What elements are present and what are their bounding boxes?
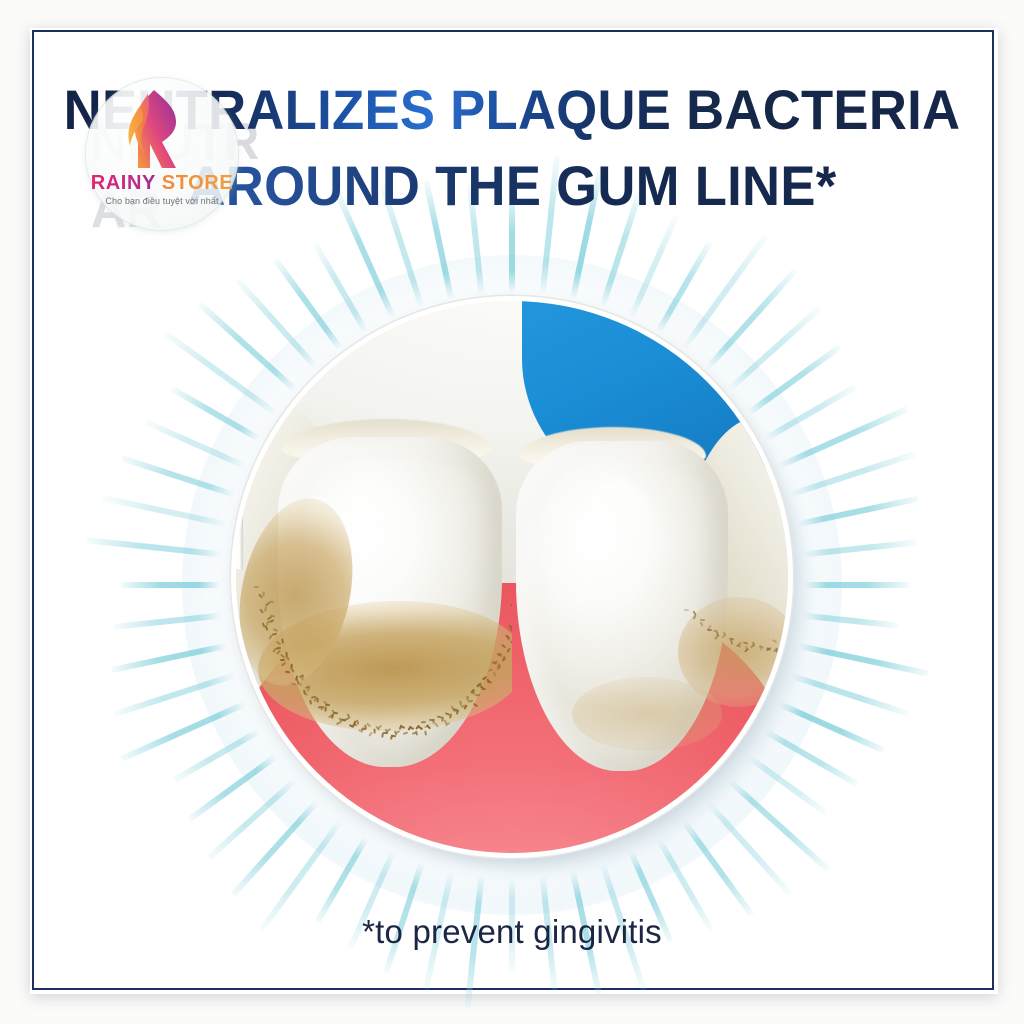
panel-treated — [512, 301, 788, 853]
bacteria-speck — [290, 667, 295, 672]
bristle-ray — [804, 582, 909, 588]
bristle-ray — [509, 191, 515, 293]
bacteria-speck — [424, 730, 427, 735]
bacteria-speck — [487, 680, 492, 683]
bacteria-speck — [254, 586, 259, 588]
bacteria-speck — [445, 712, 450, 716]
bacteria-speck — [285, 671, 290, 674]
bacteria-speck — [352, 723, 357, 726]
footnote-text: *to prevent gingivitis — [0, 913, 1024, 951]
bacteria-speck — [291, 682, 296, 686]
bacteria-speck — [466, 695, 469, 700]
bacteria-speck — [273, 628, 278, 632]
bacteria-speck — [331, 713, 334, 718]
illustration-circle — [236, 301, 788, 853]
bacteria-speck — [303, 692, 308, 697]
split-divider — [236, 301, 243, 569]
bacteria-speck — [390, 734, 393, 739]
watermark-tagline: Cho bạn điều tuyệt vời nhất — [86, 196, 238, 206]
flame-r-logo-icon — [124, 88, 200, 170]
bacteria-speck — [501, 644, 506, 649]
bacteria-speck — [373, 729, 375, 734]
bacteria-specks-right — [512, 301, 788, 853]
bacteria-speck — [421, 721, 426, 724]
bacteria-speck — [281, 662, 286, 667]
brand-secondary: STORE — [162, 172, 234, 194]
bacteria-speck — [692, 614, 697, 619]
bacteria-speck — [301, 675, 305, 680]
bacteria-speck — [473, 703, 478, 708]
bacteria-speck — [472, 690, 474, 695]
bacteria-speck — [403, 731, 408, 735]
bacteria-speck — [306, 686, 310, 691]
bacteria-speck — [459, 700, 462, 705]
bacteria-speck — [344, 717, 349, 721]
watermark-brand: RAINY STORE — [86, 172, 238, 195]
bacteria-speck — [437, 716, 442, 719]
bacteria-speck — [772, 639, 777, 643]
bacteria-speck — [276, 641, 281, 646]
artwork-canvas: NEUTRALIZES PLAQUE BACTERIA AROUND THE G… — [0, 0, 1024, 1024]
bacteria-speck — [368, 731, 373, 736]
bacteria-speck — [506, 647, 511, 652]
bacteria-speck — [324, 706, 327, 711]
bacteria-speck — [699, 621, 703, 626]
bacteria-speck — [684, 609, 689, 611]
bacteria-speck — [361, 728, 366, 731]
bacteria-speck — [475, 694, 480, 696]
bacteria-speck — [264, 606, 267, 611]
bacteria-speck — [503, 655, 506, 660]
bristle-ray — [121, 582, 220, 588]
bacteria-speck — [743, 641, 748, 645]
bacteria-speck — [297, 682, 302, 686]
bacteria-speck — [714, 634, 719, 639]
bacteria-speck — [336, 721, 341, 725]
bacteria-speck — [272, 632, 277, 635]
bacteria-speck — [492, 671, 496, 676]
bacteria-speck — [381, 732, 384, 737]
bacteria-speck — [309, 699, 312, 704]
bacteria-speck — [281, 638, 284, 643]
bacteria-speck — [262, 592, 265, 597]
bacteria-speck — [707, 629, 712, 632]
watermark-logo: NEUTR AR — [86, 72, 238, 240]
bacteria-speck — [259, 608, 264, 613]
bacteria-speck — [713, 630, 718, 633]
bacteria-speck — [434, 722, 439, 727]
bacteria-speck — [429, 719, 434, 722]
bacteria-specks-left — [236, 301, 512, 853]
bacteria-speck — [285, 656, 290, 661]
bacteria-speck — [265, 625, 269, 630]
bacteria-speck — [316, 698, 318, 703]
bacteria-speck — [481, 688, 486, 691]
panel-untreated — [236, 301, 512, 853]
brand-primary: RAINY — [91, 172, 156, 194]
ad-creative: NEUTRALIZES PLAQUE BACTERIA AROUND THE G… — [0, 0, 1024, 1024]
bacteria-speck — [736, 644, 741, 647]
bacteria-speck — [269, 619, 274, 623]
